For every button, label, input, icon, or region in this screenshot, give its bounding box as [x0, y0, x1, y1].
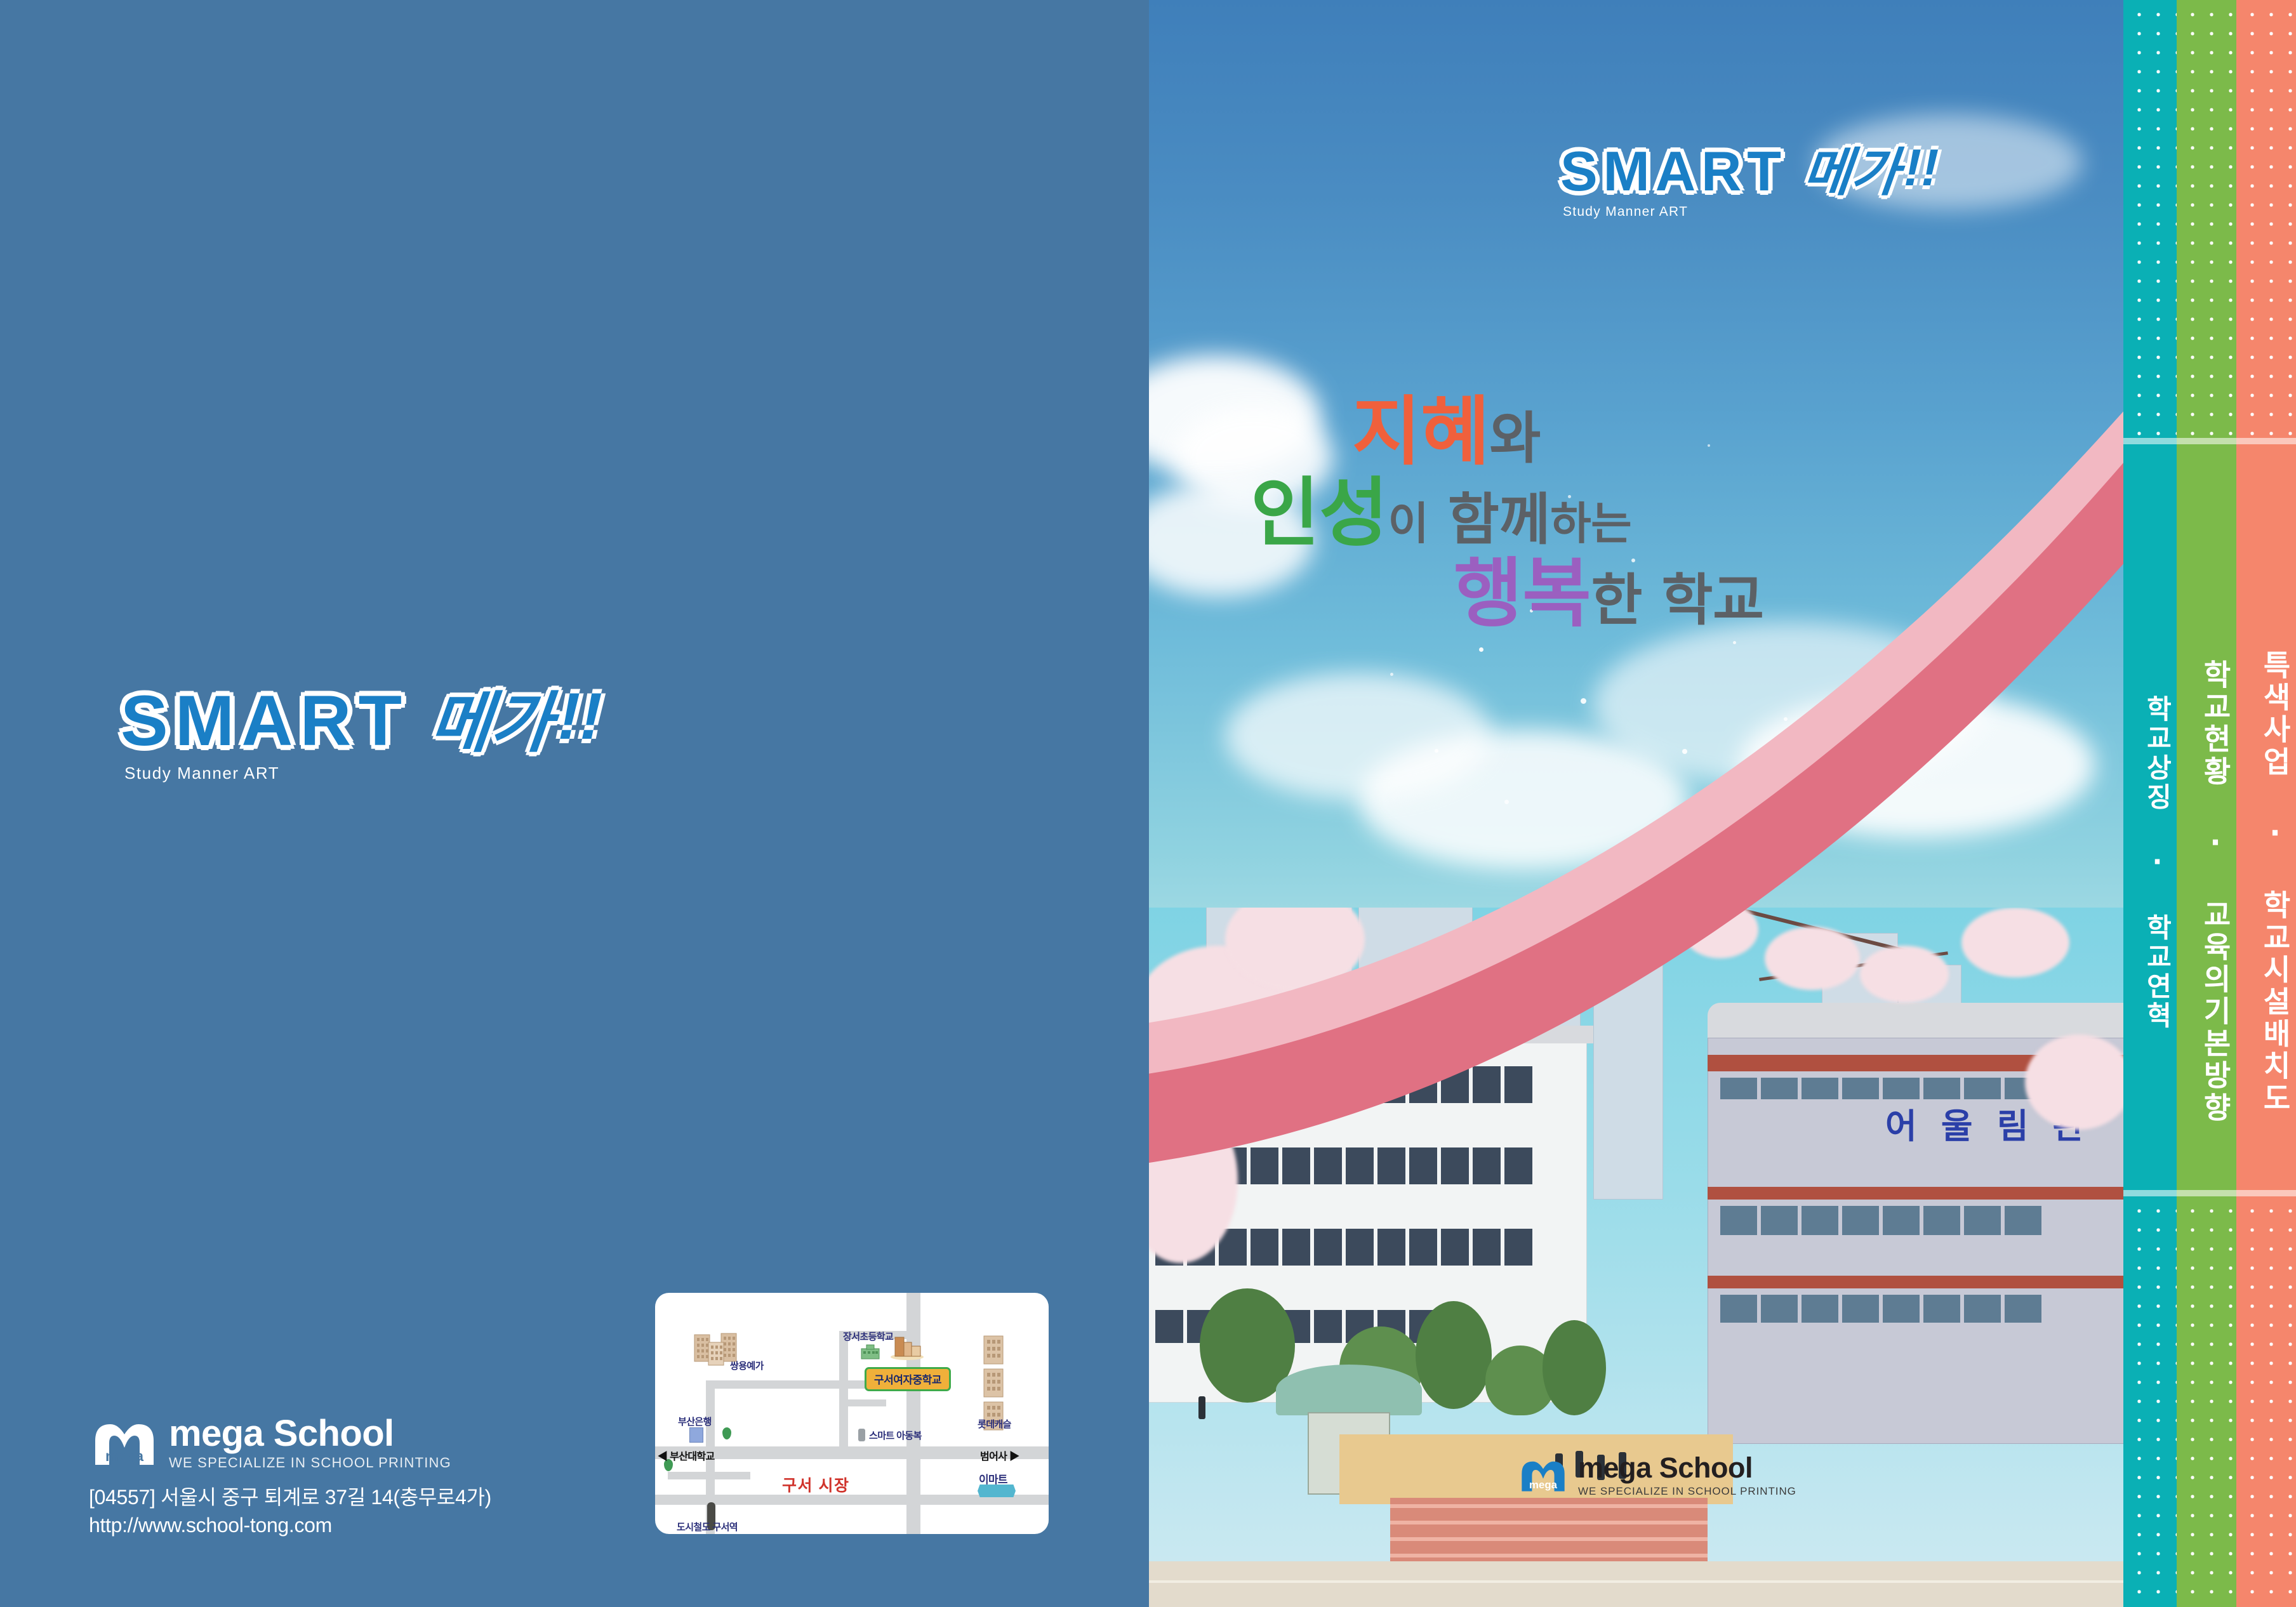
smart-exclamation: !!	[550, 679, 611, 755]
map-label-subway: 도시철도 구서역	[677, 1520, 738, 1533]
window-row	[1720, 1295, 2041, 1323]
apartment-tower	[1593, 958, 1663, 1200]
smart-korean-hand-text: 메가	[427, 692, 555, 755]
yard-line	[1149, 1580, 2123, 1583]
tab-label-school-symbol-history: 학교상징 · 학교연혁	[2123, 641, 2177, 1085]
headline-particle-i: 이	[1388, 498, 1428, 550]
map-label-guseo-market: 구서 시장	[782, 1473, 849, 1496]
headline-word-doing: 하는	[1550, 498, 1631, 550]
headline-word-school: 한 학교	[1591, 567, 1763, 633]
sparkle	[1504, 800, 1509, 804]
tree	[1416, 1301, 1492, 1409]
map-label-ssangyong: 쌍용예가	[730, 1359, 764, 1372]
cherry-blossom	[1961, 908, 2069, 977]
svg-text:mega: mega	[105, 1448, 143, 1464]
mega-logo-title: mega School	[169, 1415, 451, 1452]
road-segment	[848, 1399, 886, 1406]
shop-icon-kidswear	[858, 1429, 865, 1441]
sparkle	[1581, 698, 1586, 704]
step-line	[1390, 1537, 1708, 1541]
building-accent-band	[1708, 1276, 2123, 1288]
tab-divider	[2236, 1190, 2296, 1196]
headline-word-character: 인성	[1251, 469, 1388, 557]
tab-divider	[2177, 1190, 2236, 1196]
smart-exclamation: !!	[1898, 138, 1946, 198]
map-label-smart-kidswear: 스마트 아동복	[869, 1429, 922, 1442]
road-segment	[706, 1380, 880, 1389]
school-photograph: 어 울 림 관	[1149, 908, 2123, 1607]
map-label-beomeosa: 범어사 ▶	[980, 1448, 1019, 1463]
window-row	[1720, 1078, 2041, 1099]
building-icon-school	[889, 1335, 926, 1363]
mega-logo-title: mega School	[1578, 1453, 1796, 1482]
tab-dot-pattern	[2177, 1196, 2236, 1607]
emart-icon	[978, 1485, 1016, 1497]
company-address: [04557] 서울시 중구 퇴계로 37길 14(충무로4가) http://…	[89, 1484, 491, 1539]
tab-divider	[2236, 438, 2296, 444]
headline-line-3: 행복한 학교	[1231, 555, 2050, 632]
sparkle	[1733, 641, 1736, 644]
headline-particle-wa: 와	[1489, 406, 1541, 471]
headline-line-2: 인성이 함께하는	[1231, 475, 2050, 551]
address-line-2[interactable]: http://www.school-tong.com	[89, 1512, 491, 1540]
cloud	[1225, 673, 1492, 800]
gym-roof	[1708, 1003, 2123, 1041]
map-label-target-school: 구서여자중학교	[865, 1367, 951, 1391]
mega-logo-text: mega School WE SPECIALIZE IN SCHOOL PRIN…	[1578, 1453, 1796, 1497]
cloud	[1593, 622, 1987, 787]
sparkle	[1682, 749, 1687, 754]
tab-dot-pattern	[2123, 0, 2177, 438]
tab-special-programs-facilities[interactable]: 특색사업 · 학교시설배치도	[2236, 0, 2296, 1607]
tab-divider	[2123, 438, 2177, 444]
smart-subtitle: Study Manner ART	[1563, 204, 1939, 220]
tab-dot-pattern	[2236, 1196, 2296, 1607]
tab-dot-pattern	[2177, 0, 2236, 438]
headline-word-wisdom: 지혜	[1352, 388, 1489, 475]
tab-school-symbol-history[interactable]: 학교상징 · 학교연혁	[2123, 0, 2177, 1607]
tab-label-school-status-education: 학교현황 · 교육의기본방향	[2177, 606, 2236, 1177]
section-tabs: 학교상징 · 학교연혁 학교현황 · 교육의기본방향 특색사업 · 학교시설배치…	[2123, 0, 2296, 1607]
mega-logo-text: mega School WE SPECIALIZE IN SCHOOL PRIN…	[169, 1415, 451, 1470]
smart-subtitle: Study Manner ART	[124, 764, 602, 783]
map-label-emart: 이마트	[979, 1471, 1007, 1486]
road-segment	[839, 1331, 848, 1458]
headline-line-1: 지혜와	[1231, 393, 2050, 470]
sparkle	[1435, 749, 1438, 753]
cover-headline: 지혜와 인성이 함께하는 행복한 학교	[1231, 393, 2050, 632]
smart-wordmark: SMART	[1560, 145, 1787, 198]
tab-dot-pattern	[2123, 1196, 2177, 1607]
mega-logo-tagline: WE SPECIALIZE IN SCHOOL PRINTING	[169, 1456, 451, 1470]
map-label-busan-university: ◀ 부산대학교	[658, 1448, 715, 1463]
building-accent-band	[1708, 1187, 2123, 1200]
cherry-blossom	[1765, 927, 1860, 990]
brochure-page: SMART 메가 !! Study Manner ART	[0, 0, 2296, 1607]
bus-stop-pin	[722, 1427, 731, 1439]
mega-logo-tagline: WE SPECIALIZE IN SCHOOL PRINTING	[1578, 1486, 1796, 1497]
tree	[1543, 1320, 1606, 1415]
tab-divider	[2177, 438, 2236, 444]
schoolyard-ground	[1149, 1561, 2123, 1607]
smart-logo-front: SMART 메가 !! Study Manner ART	[1560, 138, 1939, 220]
smart-wordmark: SMART	[121, 687, 409, 755]
back-cover-panel: SMART 메가 !! Study Manner ART	[0, 0, 1149, 1607]
smart-logo-row: SMART 메가 !!	[121, 679, 602, 755]
headline-word-together: 함께	[1429, 487, 1551, 552]
map-label-busan-bank: 부산은행	[678, 1415, 712, 1428]
cherry-blossom	[1860, 946, 1949, 1003]
smart-logo-row: SMART 메가 !!	[1560, 138, 1939, 198]
map-label-elementary: 장서초등학교	[843, 1330, 893, 1343]
sparkle	[1390, 673, 1393, 676]
sparkle	[1479, 647, 1483, 652]
svg-text:mega: mega	[1529, 1479, 1558, 1491]
tab-school-status-education[interactable]: 학교현황 · 교육의기본방향	[2177, 0, 2236, 1607]
location-map: 쌍용예가 장서초등학교 구서여자중학교	[655, 1293, 1049, 1534]
step-line	[1390, 1554, 1708, 1557]
tab-divider	[2123, 1190, 2177, 1196]
headline-word-happy: 행복	[1454, 550, 1591, 637]
tab-label-special-programs-facilities: 특색사업 · 학교시설배치도	[2236, 590, 2296, 1174]
address-line-1: [04557] 서울시 중구 퇴계로 37길 14(충무로4가)	[89, 1484, 491, 1512]
pavilion-roof	[1276, 1365, 1422, 1415]
sparkle	[1784, 717, 1788, 721]
tab-dot-pattern	[2236, 0, 2296, 438]
mega-logo-mark: mega	[89, 1419, 160, 1466]
smart-logo-back: SMART 메가 !! Study Manner ART	[121, 679, 602, 783]
step-line	[1390, 1504, 1708, 1508]
map-label-lotte-castle: 롯데캐슬	[978, 1417, 1011, 1431]
front-cover-panel: SMART 메가 !! Study Manner ART 지혜와 인성이 함께하…	[1149, 0, 2123, 1607]
window-row	[1720, 1206, 2041, 1235]
smart-korean-hand-text: 메가	[1801, 149, 1902, 198]
mega-logo-mark: mega	[1517, 1457, 1569, 1493]
step-line	[1390, 1521, 1708, 1524]
student-figure	[1198, 1396, 1205, 1419]
building-icon-bank	[689, 1427, 703, 1443]
mega-school-logo-front: mega mega School WE SPECIALIZE IN SCHOOL…	[1517, 1453, 1796, 1497]
building-icon-elementary	[859, 1342, 881, 1363]
mega-school-logo-back: mega mega School WE SPECIALIZE IN SCHOOL…	[89, 1415, 451, 1470]
